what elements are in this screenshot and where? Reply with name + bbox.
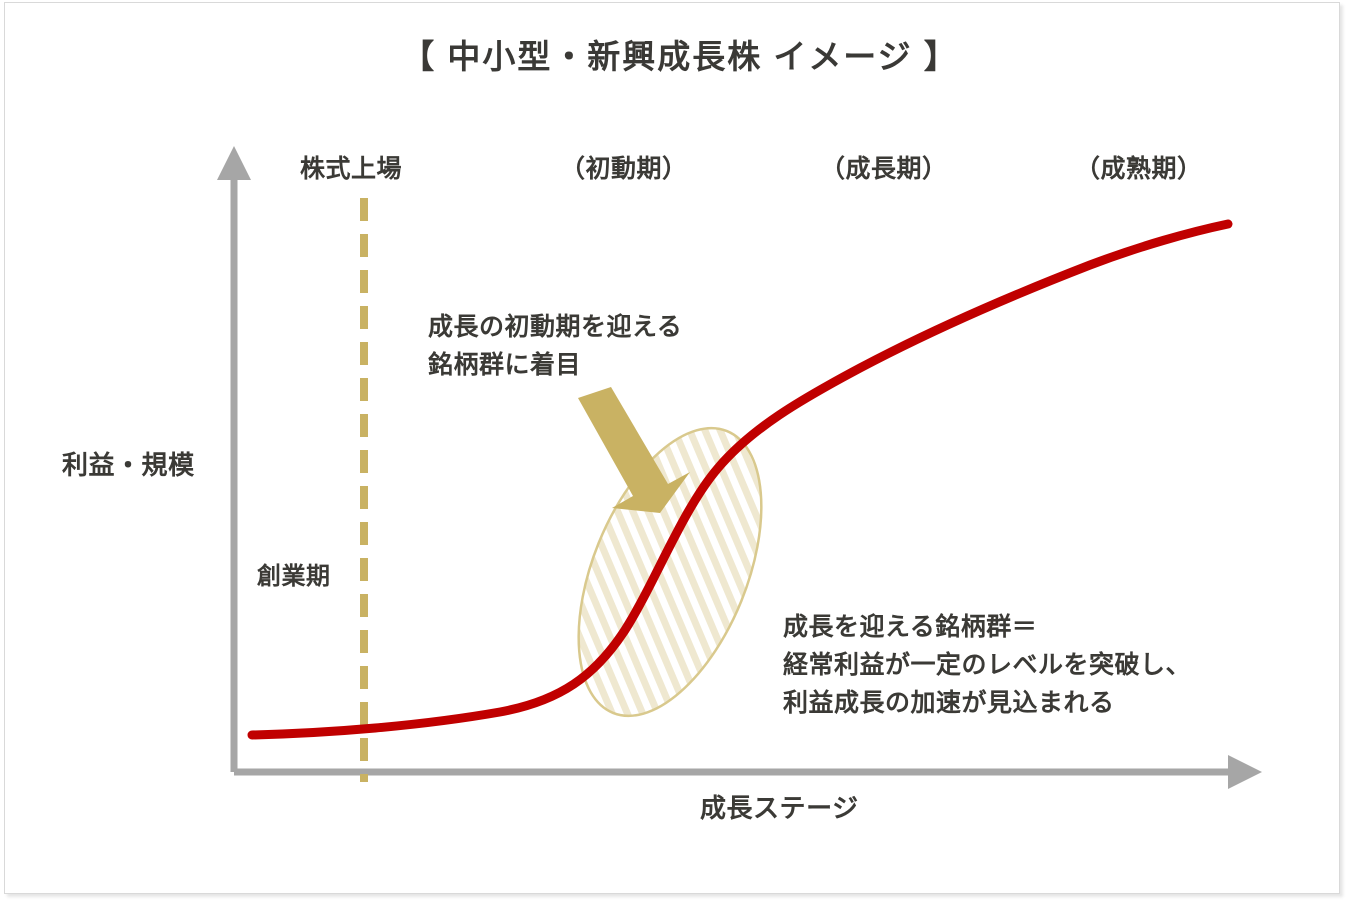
annotation-bottom: 成長を迎える銘柄群＝ 経常利益が一定のレベルを突破し、 利益成長の加速が見込まれ… [783,608,1191,722]
stage-label-initial: （初動期） [560,152,688,187]
y-axis [217,146,251,772]
figure-canvas: 【 中小型・新興成長株 イメージ 】 株式上場 （初動期） （成長期） （成熟期… [0,0,1360,914]
stage-label-listing: 株式上場 [300,152,402,187]
annotation-top: 成長の初動期を迎える 銘柄群に着目 [428,308,682,384]
growth-stage-chart [0,0,1360,914]
page-title: 【 中小型・新興成長株 イメージ 】 [0,34,1360,80]
founding-stage-label: 創業期 [257,560,330,593]
stage-label-mature: （成熟期） [1075,152,1203,187]
x-axis-label: 成長ステージ [700,791,859,827]
stage-label-growth: （成長期） [820,152,948,187]
x-axis [234,755,1262,789]
highlight-ellipse [542,402,799,742]
y-axis-label: 利益・規模 [62,448,195,484]
